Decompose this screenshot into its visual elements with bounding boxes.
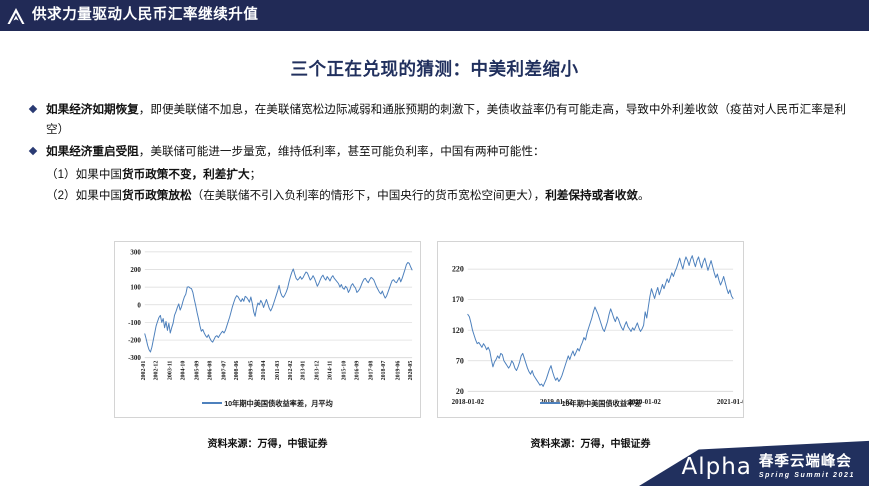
svg-text:-200: -200 <box>128 338 141 345</box>
chart-left-legend: 10年期中美国债收益率差，月平均 <box>114 399 421 409</box>
svg-text:2008-06: 2008-06 <box>234 361 240 381</box>
svg-text:2015-10: 2015-10 <box>342 361 348 381</box>
svg-text:-300: -300 <box>128 355 141 362</box>
bullet-text: 如果经济如期恢复，即便美联储不加息，在美联储宽松边际减弱和通胀预期的刺激下，美债… <box>46 100 848 139</box>
numbered-segment: 货币政策放松 <box>122 189 192 202</box>
svg-text:2002-01: 2002-01 <box>141 361 147 381</box>
mountain-triangle-logo-icon <box>0 0 32 31</box>
svg-text:2009-05: 2009-05 <box>248 361 254 381</box>
svg-text:70: 70 <box>456 356 464 365</box>
header-title: 供求力量驱动人民币汇率继续升值 <box>32 0 259 31</box>
body-content: 如果经济如期恢复，即便美联储不加息，在美联储宽松边际减弱和通胀预期的刺激下，美债… <box>30 100 848 208</box>
diamond-bullet-icon <box>30 142 46 156</box>
legend-label: 10年期中美国债收益率差 <box>562 399 642 408</box>
svg-text:0: 0 <box>137 302 141 309</box>
svg-text:200: 200 <box>130 267 141 274</box>
numbered-segment: 货币政策不变，利差扩大 <box>122 168 250 181</box>
bullet-segment: 如果经济如期恢复 <box>46 103 139 116</box>
numbered-item: （1）如果中国货币政策不变，利差扩大； <box>46 165 848 185</box>
svg-text:120: 120 <box>452 326 464 335</box>
diamond-bullet-icon <box>30 100 46 114</box>
svg-text:2002-12: 2002-12 <box>154 361 160 381</box>
bullet-text: 如果经济重启受阻，美联储可能进一步量宽，维持低利率，甚至可能负利率，中国有两种可… <box>46 142 848 162</box>
svg-text:2013-12: 2013-12 <box>315 361 321 381</box>
page-title: 三个正在兑现的猜测：中美利差缩小 <box>0 56 869 81</box>
svg-text:2005-09: 2005-09 <box>195 361 201 381</box>
numbered-segment: （2）如果中国 <box>46 189 122 202</box>
svg-text:2014-11: 2014-11 <box>327 361 333 380</box>
svg-text:2016-09: 2016-09 <box>354 361 360 381</box>
legend-line-icon <box>202 402 222 404</box>
svg-text:100: 100 <box>130 285 141 292</box>
numbered-segment: ； <box>250 168 262 181</box>
bullet-item: 如果经济如期恢复，即便美联储不加息，在美联储宽松边际减弱和通胀预期的刺激下，美债… <box>30 100 848 139</box>
summit-chinese-text: 春季云端峰会 <box>759 454 852 470</box>
chart-left-source: 资料来源：万得，中银证券 <box>114 435 421 450</box>
svg-text:2018-07: 2018-07 <box>381 361 387 381</box>
legend-label: 10年期中美国债收益率差，月平均 <box>224 399 333 408</box>
slide: 供求力量驱动人民币汇率继续升值 三个正在兑现的猜测：中美利差缩小 如果经济如期恢… <box>0 0 869 486</box>
summit-alpha-text: Alpha <box>681 455 751 480</box>
summit-english-text: Spring Summit 2021 <box>759 471 855 480</box>
chart-left: -300-200-10001002003002002-012002-122003… <box>114 241 421 418</box>
summit-text-block: 春季云端峰会 Spring Summit 2021 <box>759 454 855 480</box>
chart-right: 20701201702202018-01-022019-01-022020-01… <box>437 241 744 418</box>
svg-text:170: 170 <box>452 295 464 304</box>
numbered-segment: 利差保持或者收敛 <box>545 189 638 202</box>
svg-text:2011-03: 2011-03 <box>275 361 281 380</box>
svg-text:2010-04: 2010-04 <box>261 361 267 381</box>
slide-header: 供求力量驱动人民币汇率继续升值 <box>0 0 869 31</box>
svg-text:-100: -100 <box>128 320 141 327</box>
svg-text:2017-08: 2017-08 <box>368 361 374 381</box>
bullet-segment: ，美联储可能进一步量宽，维持低利率，甚至可能负利率，中国有两种可能性： <box>139 145 545 158</box>
svg-text:2013-01: 2013-01 <box>301 361 307 381</box>
chart-right-source: 资料来源：万得，中银证券 <box>437 435 744 450</box>
svg-text:2020-05: 2020-05 <box>408 361 414 381</box>
svg-text:20: 20 <box>456 387 464 396</box>
bullet-segment: 如果经济重启受阻 <box>46 145 139 158</box>
chart-right-plot: 20701201702202018-01-022019-01-022020-01… <box>438 242 743 417</box>
svg-text:2004-10: 2004-10 <box>180 361 186 381</box>
chart-right-legend: 10年期中美国债收益率差 <box>437 399 744 409</box>
svg-text:2019-06: 2019-06 <box>395 361 401 381</box>
svg-text:2006-08: 2006-08 <box>207 361 213 381</box>
numbered-segment: （1）如果中国 <box>46 168 122 181</box>
svg-text:2012-02: 2012-02 <box>288 361 294 381</box>
svg-text:220: 220 <box>452 265 464 274</box>
numbered-segment: （在美联储不引入负利率的情形下，中国央行的货币宽松空间更大）， <box>192 189 546 202</box>
svg-text:2007-07: 2007-07 <box>221 361 227 381</box>
chart-left-plot: -300-200-10001002003002002-012002-122003… <box>115 242 420 417</box>
numbered-segment: 。 <box>638 189 650 202</box>
bullet-item: 如果经济重启受阻，美联储可能进一步量宽，维持低利率，甚至可能负利率，中国有两种可… <box>30 142 848 162</box>
bullet-segment: ，即便美联储不加息，在美联储宽松边际减弱和通胀预期的刺激下，美债收益率仍有可能走… <box>46 103 846 136</box>
numbered-item: （2）如果中国货币政策放松（在美联储不引入负利率的情形下，中国央行的货币宽松空间… <box>46 186 848 206</box>
svg-text:300: 300 <box>130 249 141 256</box>
summit-logo: Alpha 春季云端峰会 Spring Summit 2021 <box>681 454 855 480</box>
legend-line-icon <box>540 402 560 404</box>
svg-text:2003-11: 2003-11 <box>168 361 174 380</box>
